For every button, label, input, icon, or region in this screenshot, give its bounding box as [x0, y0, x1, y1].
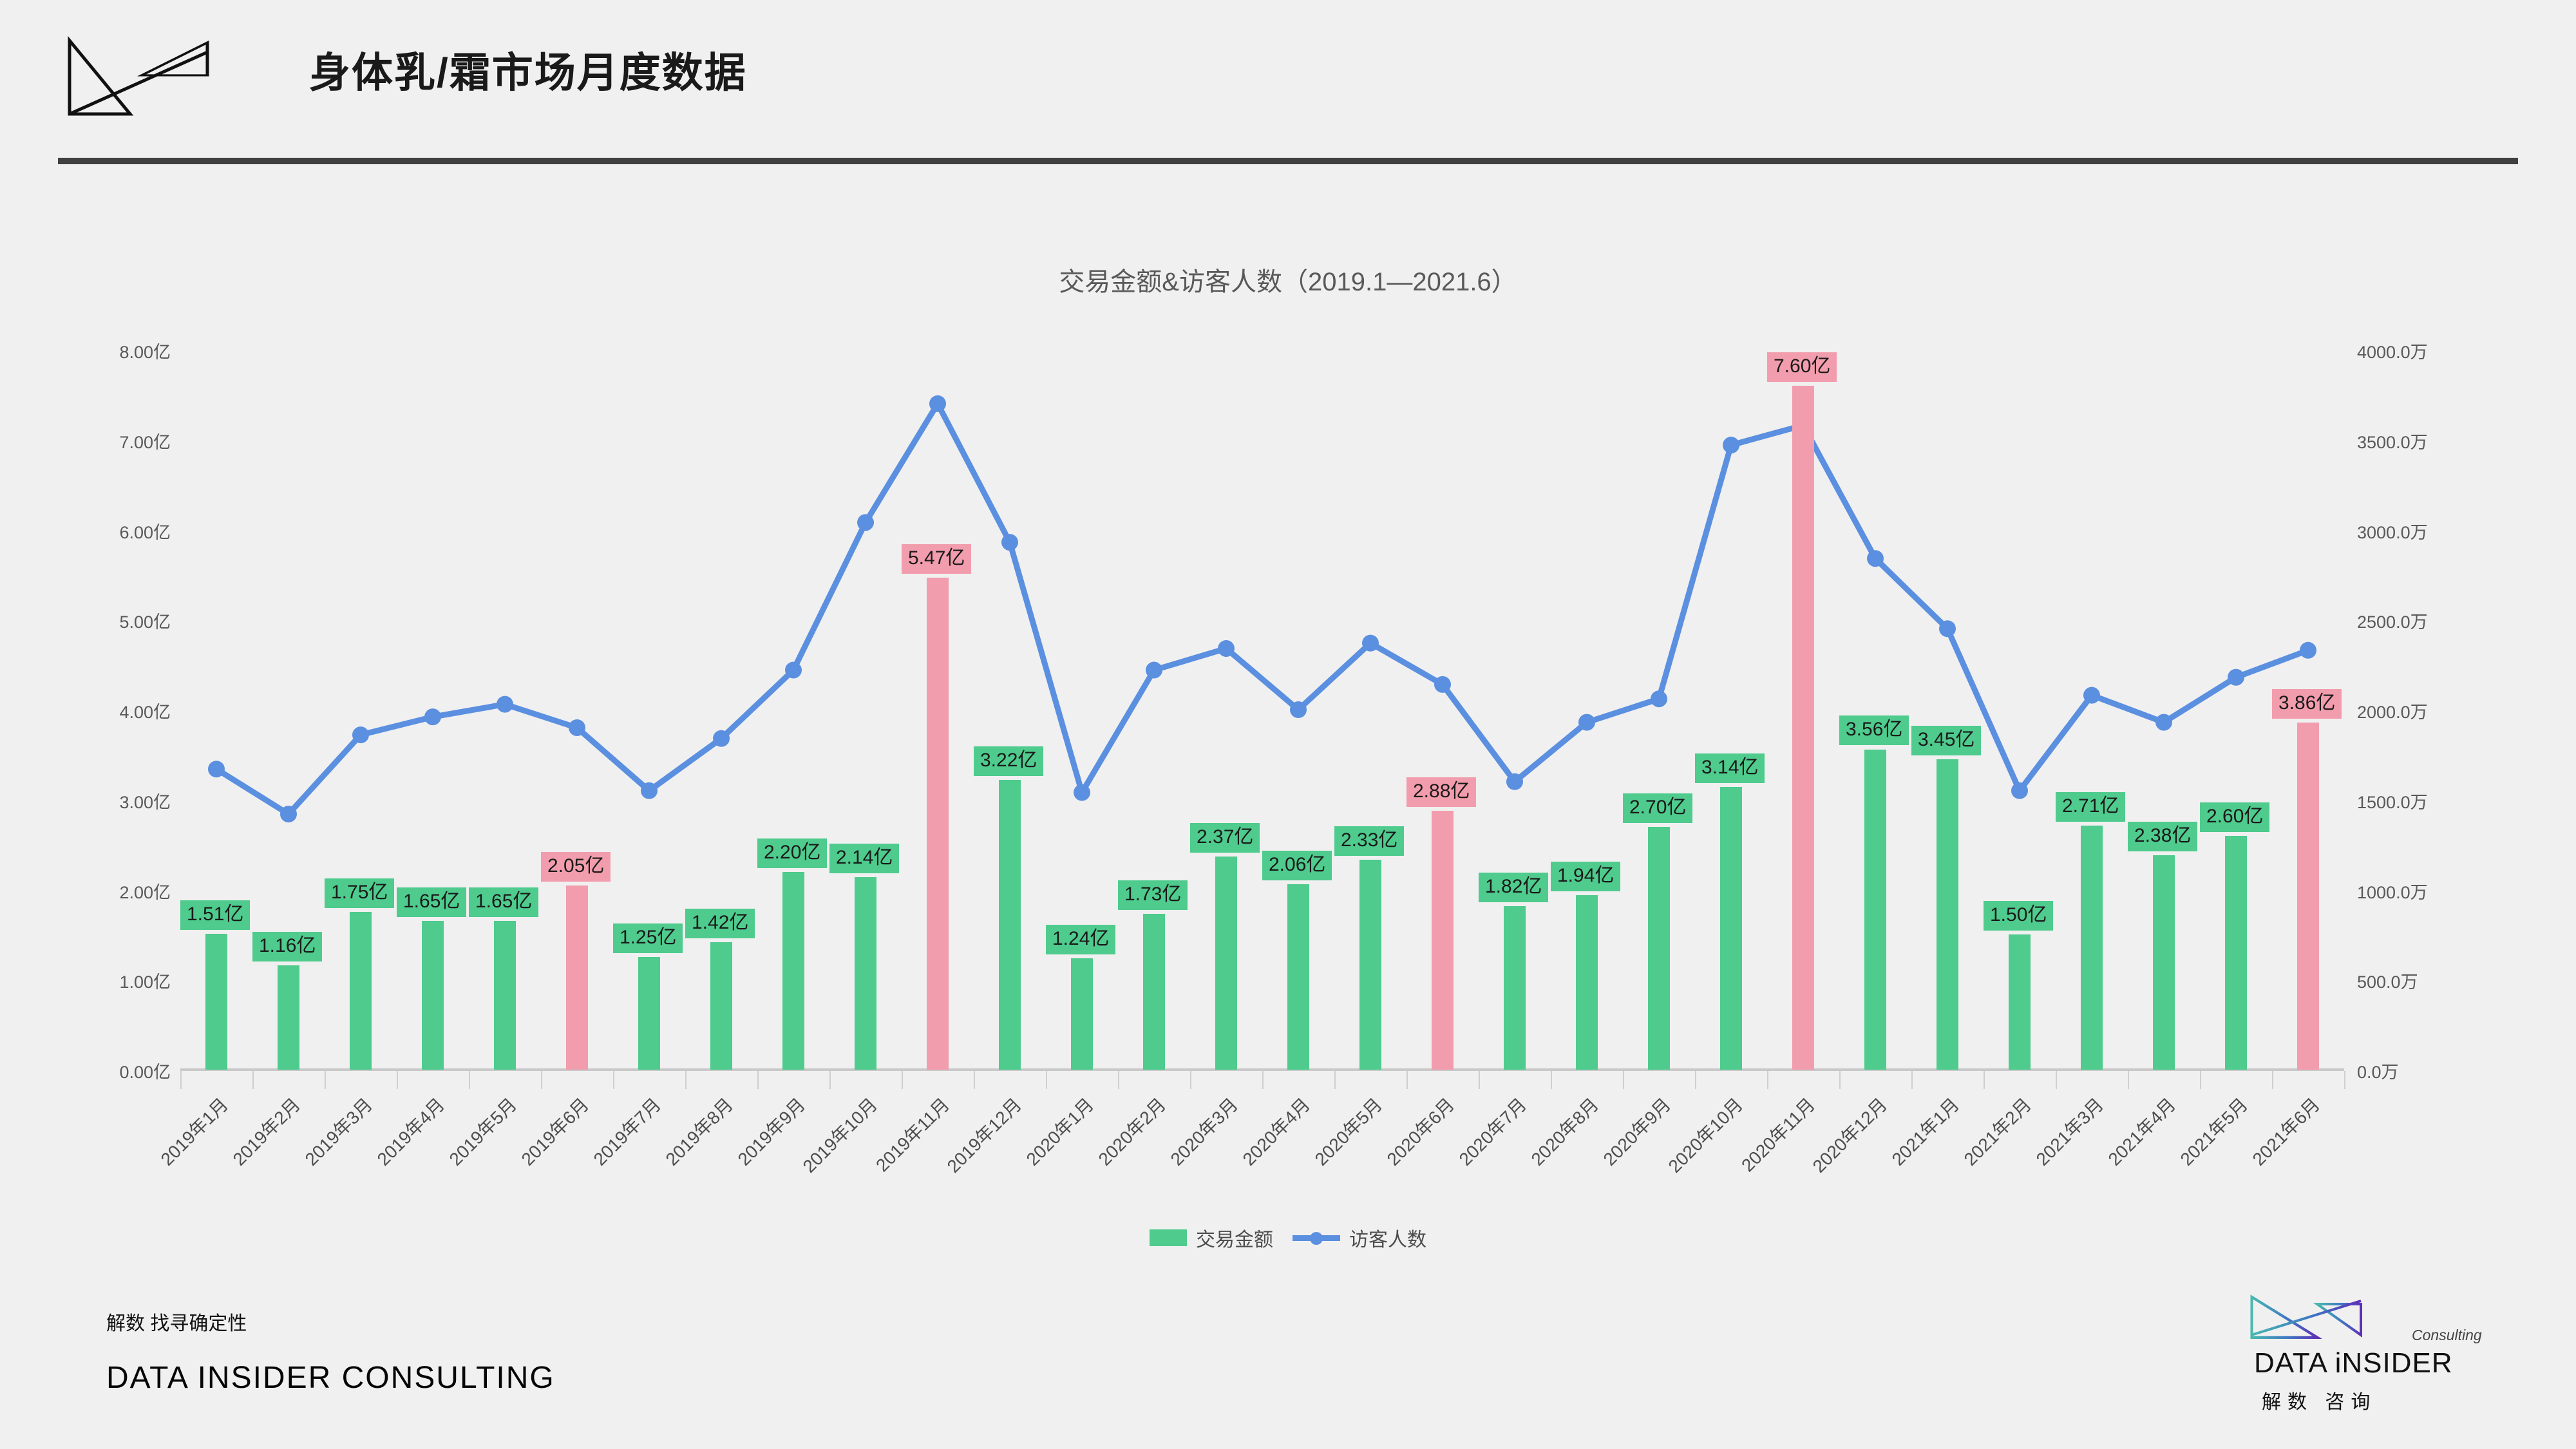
x-axis-label: 2021年5月: [2173, 1092, 2253, 1171]
x-axis-label: 2019年10月: [796, 1092, 882, 1178]
x-axis-label: 2020年2月: [1092, 1092, 1171, 1171]
bar[interactable]: [1504, 906, 1526, 1070]
y-tick-right: 3500.0万: [2357, 428, 2428, 453]
x-tick: [1767, 1071, 1768, 1089]
visitors-line-point[interactable]: [1146, 662, 1162, 679]
legend-label-visitors: 访客人数: [1349, 1224, 1426, 1252]
bar[interactable]: [927, 578, 949, 1070]
x-tick: [1262, 1071, 1264, 1089]
x-axis-label: 2019年12月: [940, 1092, 1027, 1178]
visitors-line-point[interactable]: [1578, 714, 1595, 731]
bar-value-label: 2.33亿: [1334, 826, 1404, 856]
bar-value-label: 7.60亿: [1767, 352, 1837, 382]
x-tick: [1406, 1071, 1408, 1089]
y-tick-left: 7.00亿: [119, 428, 171, 453]
visitors-line-point[interactable]: [1939, 620, 1956, 637]
x-tick: [2272, 1071, 2273, 1089]
x-tick: [829, 1071, 831, 1089]
y-tick-left: 6.00亿: [119, 518, 171, 544]
bar[interactable]: [350, 912, 372, 1070]
x-axis-label: 2021年3月: [2029, 1092, 2108, 1171]
bar-value-label: 2.38亿: [2128, 822, 2197, 851]
bar-value-label: 2.14亿: [829, 844, 899, 873]
visitors-line-point[interactable]: [352, 726, 369, 743]
y-tick-left: 2.00亿: [119, 878, 171, 904]
x-tick: [1046, 1071, 1047, 1089]
y-tick-left: 1.00亿: [119, 968, 171, 993]
x-axis-label: 2019年2月: [226, 1092, 305, 1171]
x-axis-label: 2021年6月: [2246, 1092, 2325, 1171]
footer-logo-wordmark: DATA iNSIDER: [2254, 1347, 2453, 1379]
bar-value-label: 1.16亿: [252, 932, 322, 961]
footer-tagline: 解数 找寻确定性: [106, 1307, 247, 1336]
bar-value-label: 1.25亿: [613, 923, 683, 953]
bar-value-label: 3.22亿: [974, 746, 1043, 776]
bar[interactable]: [1576, 895, 1598, 1070]
footer-company: DATA INSIDER CONSULTING: [106, 1360, 555, 1396]
bar[interactable]: [205, 934, 227, 1070]
x-tick: [974, 1071, 975, 1089]
visitors-line-point[interactable]: [208, 761, 225, 777]
x-tick: [1118, 1071, 1119, 1089]
bar[interactable]: [2081, 826, 2103, 1070]
visitors-line-point[interactable]: [2083, 687, 2100, 704]
y-tick-right: 0.0万: [2357, 1058, 2399, 1083]
x-tick: [397, 1071, 398, 1089]
x-axis-label: 2019年8月: [659, 1092, 738, 1171]
x-tick: [180, 1071, 182, 1089]
visitors-line-point[interactable]: [497, 696, 513, 713]
visitors-line-point[interactable]: [1362, 635, 1379, 652]
bar[interactable]: [1432, 811, 1454, 1070]
visitors-line-point[interactable]: [713, 730, 730, 747]
chart-legend: 交易金额 访客人数: [0, 1224, 2576, 1252]
x-tick: [2200, 1071, 2201, 1089]
x-tick: [1695, 1071, 1696, 1089]
bar[interactable]: [278, 965, 299, 1070]
visitors-line-point[interactable]: [1506, 773, 1523, 790]
x-axis-label: 2020年11月: [1735, 1092, 1820, 1177]
x-tick: [252, 1071, 254, 1089]
bar-value-label: 2.37亿: [1190, 823, 1260, 853]
y-tick-right: 1000.0万: [2357, 878, 2428, 904]
bar[interactable]: [2297, 723, 2319, 1070]
visitors-line-point[interactable]: [641, 782, 658, 799]
footer-logo-consulting: Consulting: [2412, 1327, 2482, 1344]
x-tick: [2056, 1071, 2057, 1089]
x-axis-label: 2020年10月: [1662, 1092, 1748, 1178]
x-tick: [1551, 1071, 1552, 1089]
x-axis-label: 2019年4月: [370, 1092, 450, 1171]
visitors-line-point[interactable]: [2228, 669, 2244, 686]
y-tick-right: 500.0万: [2357, 968, 2418, 993]
x-tick: [541, 1071, 542, 1089]
bar[interactable]: [782, 872, 804, 1070]
visitors-line-point[interactable]: [1074, 784, 1090, 801]
x-tick: [325, 1071, 326, 1089]
bar-value-label: 2.71亿: [2056, 792, 2125, 822]
bar-value-label: 5.47亿: [902, 544, 971, 574]
visitors-line-point[interactable]: [1867, 550, 1884, 567]
x-axis-label: 2019年7月: [587, 1092, 666, 1171]
chart-title: 交易金额&访客人数（2019.1—2021.6）: [0, 261, 2576, 298]
x-tick: [1984, 1071, 1985, 1089]
x-axis-label: 2020年1月: [1019, 1092, 1099, 1171]
y-tick-right: 4000.0万: [2357, 338, 2428, 363]
y-tick-left: 8.00亿: [119, 338, 171, 363]
page-title: 身体乳/霜市场月度数据: [309, 40, 747, 99]
x-tick: [757, 1071, 759, 1089]
visitors-line-point[interactable]: [1651, 690, 1667, 707]
x-axis-label: 2021年4月: [2101, 1092, 2181, 1171]
visitors-line-point[interactable]: [2155, 714, 2172, 731]
bar[interactable]: [422, 921, 444, 1070]
visitors-line-point[interactable]: [569, 719, 585, 736]
x-axis-label: 2021年2月: [1957, 1092, 2036, 1171]
bar-value-label: 1.75亿: [325, 878, 394, 908]
header-divider: [58, 158, 2518, 164]
visitors-line-point[interactable]: [2011, 782, 2028, 799]
bar[interactable]: [710, 942, 732, 1070]
bar[interactable]: [999, 780, 1021, 1070]
bar[interactable]: [1359, 860, 1381, 1070]
x-axis-label: 2020年7月: [1452, 1092, 1531, 1171]
x-axis-label: 2019年5月: [442, 1092, 522, 1171]
bar-value-label: 2.20亿: [757, 838, 827, 868]
x-tick: [1911, 1071, 1913, 1089]
visitors-line-point[interactable]: [1218, 640, 1235, 657]
x-axis-labels: 2019年1月2019年2月2019年3月2019年4月2019年5月2019年…: [180, 1092, 2344, 1233]
bar[interactable]: [1720, 787, 1742, 1070]
bar-value-label: 2.88亿: [1406, 777, 1476, 807]
x-axis-label: 2019年3月: [298, 1092, 377, 1171]
x-tick: [2344, 1071, 2345, 1089]
footer-logo-cn: 解数 咨询: [2262, 1386, 2376, 1414]
x-axis-label: 2020年8月: [1524, 1092, 1604, 1171]
bar-value-label: 2.60亿: [2200, 802, 2269, 832]
bar[interactable]: [494, 921, 516, 1070]
bar-value-label: 1.42亿: [685, 909, 755, 938]
chart-plot-area: 1.51亿1.16亿1.75亿1.65亿1.65亿2.05亿1.25亿1.42亿…: [180, 350, 2344, 1070]
visitors-line-point[interactable]: [785, 662, 802, 679]
bar[interactable]: [1215, 857, 1237, 1070]
visitors-line-point[interactable]: [424, 708, 441, 725]
x-axis-label: 2020年4月: [1236, 1092, 1315, 1171]
bar-value-label: 3.14亿: [1695, 753, 1765, 783]
bar-value-label: 2.06亿: [1262, 851, 1332, 880]
bar-value-label: 1.50亿: [1984, 901, 2053, 931]
x-tick: [469, 1071, 470, 1089]
x-tick: [1623, 1071, 1624, 1089]
visitors-line-point[interactable]: [2300, 642, 2316, 659]
x-tick: [613, 1071, 614, 1089]
bar-value-label: 3.86亿: [2272, 689, 2342, 719]
visitors-line-point[interactable]: [857, 514, 874, 531]
x-axis-label: 2020年6月: [1380, 1092, 1459, 1171]
y-tick-right: 2000.0万: [2357, 698, 2428, 723]
bar[interactable]: [1937, 759, 1958, 1070]
visitors-line-point[interactable]: [280, 806, 297, 822]
y-tick-right: 1500.0万: [2357, 788, 2428, 813]
bar[interactable]: [2153, 855, 2175, 1070]
legend-label-amount: 交易金额: [1196, 1224, 1273, 1252]
bar-value-label: 1.65亿: [469, 887, 538, 917]
y-tick-right: 3000.0万: [2357, 518, 2428, 544]
x-axis-label: 2019年6月: [515, 1092, 594, 1171]
x-tick: [1839, 1071, 1841, 1089]
visitors-line-point[interactable]: [929, 395, 946, 412]
visitors-line-point[interactable]: [1001, 534, 1018, 551]
x-axis-label: 2021年1月: [1885, 1092, 1964, 1171]
bar-value-label: 3.45亿: [1911, 726, 1981, 755]
legend-item-amount[interactable]: 交易金额: [1150, 1224, 1273, 1252]
visitors-line-point[interactable]: [1434, 676, 1451, 693]
y-tick-right: 2500.0万: [2357, 608, 2428, 633]
bar-value-label: 1.82亿: [1479, 873, 1548, 902]
bar-swatch-icon: [1150, 1229, 1187, 1246]
bar-value-label: 2.70亿: [1623, 793, 1692, 823]
bar[interactable]: [2225, 836, 2247, 1070]
bar[interactable]: [1143, 914, 1165, 1070]
bar-value-label: 2.05亿: [541, 852, 611, 882]
bar-value-label: 1.51亿: [180, 900, 250, 930]
y-tick-left: 0.00亿: [119, 1058, 171, 1083]
visitors-line-point[interactable]: [1723, 437, 1739, 453]
bar-value-label: 3.56亿: [1839, 715, 1909, 745]
bar[interactable]: [855, 877, 876, 1070]
bar[interactable]: [1287, 884, 1309, 1070]
bar[interactable]: [1648, 827, 1670, 1070]
x-tick: [685, 1071, 687, 1089]
bar-value-label: 1.94亿: [1551, 862, 1620, 891]
x-tick: [2128, 1071, 2129, 1089]
page-header: 身体乳/霜市场月度数据: [0, 0, 2576, 174]
bar-value-label: 1.65亿: [397, 887, 466, 917]
x-axis-label: 2019年11月: [869, 1092, 954, 1177]
bar[interactable]: [1864, 750, 1886, 1070]
bar[interactable]: [566, 885, 588, 1070]
x-axis-label: 2020年3月: [1164, 1092, 1243, 1171]
x-axis-ticks: [180, 1071, 2344, 1089]
bar-value-label: 1.73亿: [1118, 880, 1188, 910]
bar-value-label: 1.24亿: [1046, 925, 1115, 954]
y-tick-left: 4.00亿: [119, 698, 171, 723]
y-tick-left: 5.00亿: [119, 608, 171, 633]
y-tick-left: 3.00亿: [119, 788, 171, 813]
x-tick: [902, 1071, 903, 1089]
bar[interactable]: [638, 957, 660, 1070]
x-axis-label: 2020年5月: [1308, 1092, 1387, 1171]
visitors-line-path: [216, 404, 2308, 814]
legend-item-visitors[interactable]: 访客人数: [1293, 1224, 1426, 1252]
x-tick: [1190, 1071, 1191, 1089]
x-axis-label: 2020年12月: [1806, 1092, 1892, 1178]
x-tick: [1334, 1071, 1336, 1089]
visitors-line-point[interactable]: [1290, 701, 1307, 718]
line-dot-icon: [1293, 1229, 1340, 1246]
bar[interactable]: [2009, 934, 2031, 1070]
bar[interactable]: [1792, 386, 1814, 1070]
x-tick: [1479, 1071, 1480, 1089]
bar[interactable]: [1071, 958, 1093, 1070]
